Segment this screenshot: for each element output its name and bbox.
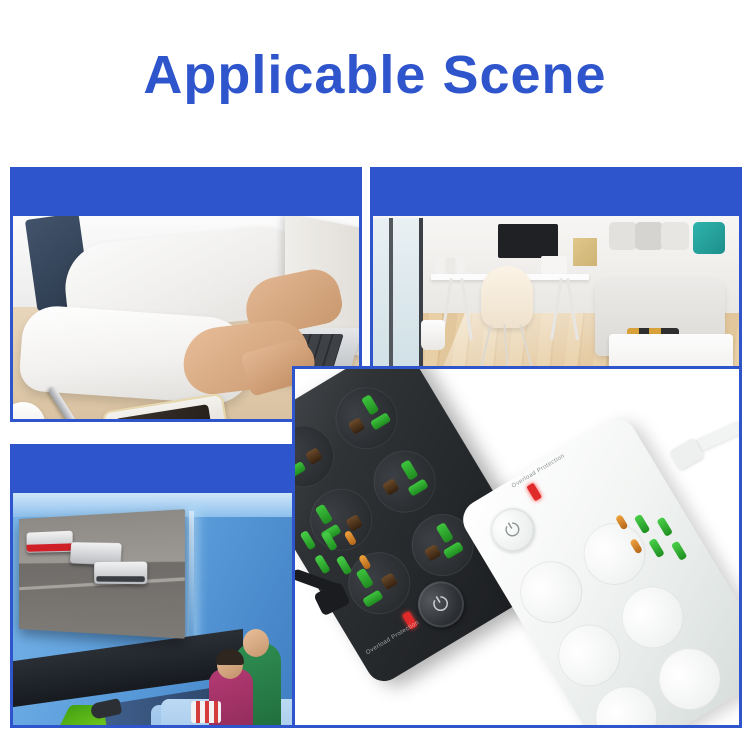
socket bbox=[324, 376, 409, 461]
sofa-pillow bbox=[635, 222, 663, 250]
power-button[interactable]: ⏻ bbox=[409, 573, 472, 636]
desk-cups bbox=[435, 258, 465, 274]
usb-port-green bbox=[656, 517, 673, 537]
adult-head bbox=[243, 629, 269, 657]
window-frame bbox=[389, 218, 393, 367]
coffee-table bbox=[609, 334, 733, 367]
usb-port-green bbox=[314, 554, 331, 574]
wall-tv bbox=[498, 224, 558, 258]
socket bbox=[509, 550, 594, 635]
power-button[interactable]: ⏻ bbox=[483, 500, 543, 560]
race-car bbox=[27, 531, 73, 553]
panel-02-image bbox=[373, 216, 739, 367]
socket bbox=[362, 439, 447, 524]
sofa-pillow bbox=[661, 222, 689, 250]
teal-pillow bbox=[693, 222, 725, 254]
applicable-scene-page: Applicable Scene 01 bbox=[0, 0, 750, 750]
window bbox=[373, 218, 423, 367]
usb-port-green bbox=[648, 538, 665, 558]
chair bbox=[481, 266, 533, 328]
socket bbox=[610, 575, 695, 660]
usb-port-green bbox=[671, 541, 688, 561]
power-icon: ⏻ bbox=[429, 592, 453, 617]
panel-01-header-band bbox=[13, 170, 359, 216]
sofa-pillow bbox=[609, 222, 637, 250]
panel-02-header-band bbox=[373, 170, 739, 216]
chair-legs bbox=[483, 324, 531, 367]
waste-bin bbox=[421, 320, 445, 350]
page-title: Applicable Scene bbox=[0, 44, 750, 106]
smartphone-screen bbox=[115, 404, 213, 419]
popcorn-bucket bbox=[191, 701, 221, 723]
scene-panel-02: 02 bbox=[370, 167, 742, 370]
power-icon: ⏻ bbox=[501, 518, 524, 542]
scene-panel-03: 03 bbox=[10, 444, 295, 728]
led-corner-light bbox=[189, 511, 194, 641]
projection-screen bbox=[19, 509, 185, 639]
usb-port-green bbox=[336, 555, 353, 575]
race-car bbox=[94, 561, 147, 584]
wall-art bbox=[573, 238, 597, 266]
panel-03-image bbox=[13, 493, 292, 725]
panel-03-header-band bbox=[13, 447, 292, 493]
power-indicator-led bbox=[526, 483, 542, 502]
socket bbox=[547, 613, 632, 698]
socket bbox=[299, 477, 384, 562]
desk-decor bbox=[541, 256, 567, 274]
product-photo-panel: ⏻ Overload Protection ⏻ Overload Protect… bbox=[292, 366, 742, 728]
black-strip-brand-text: Overload Protection bbox=[365, 620, 420, 656]
